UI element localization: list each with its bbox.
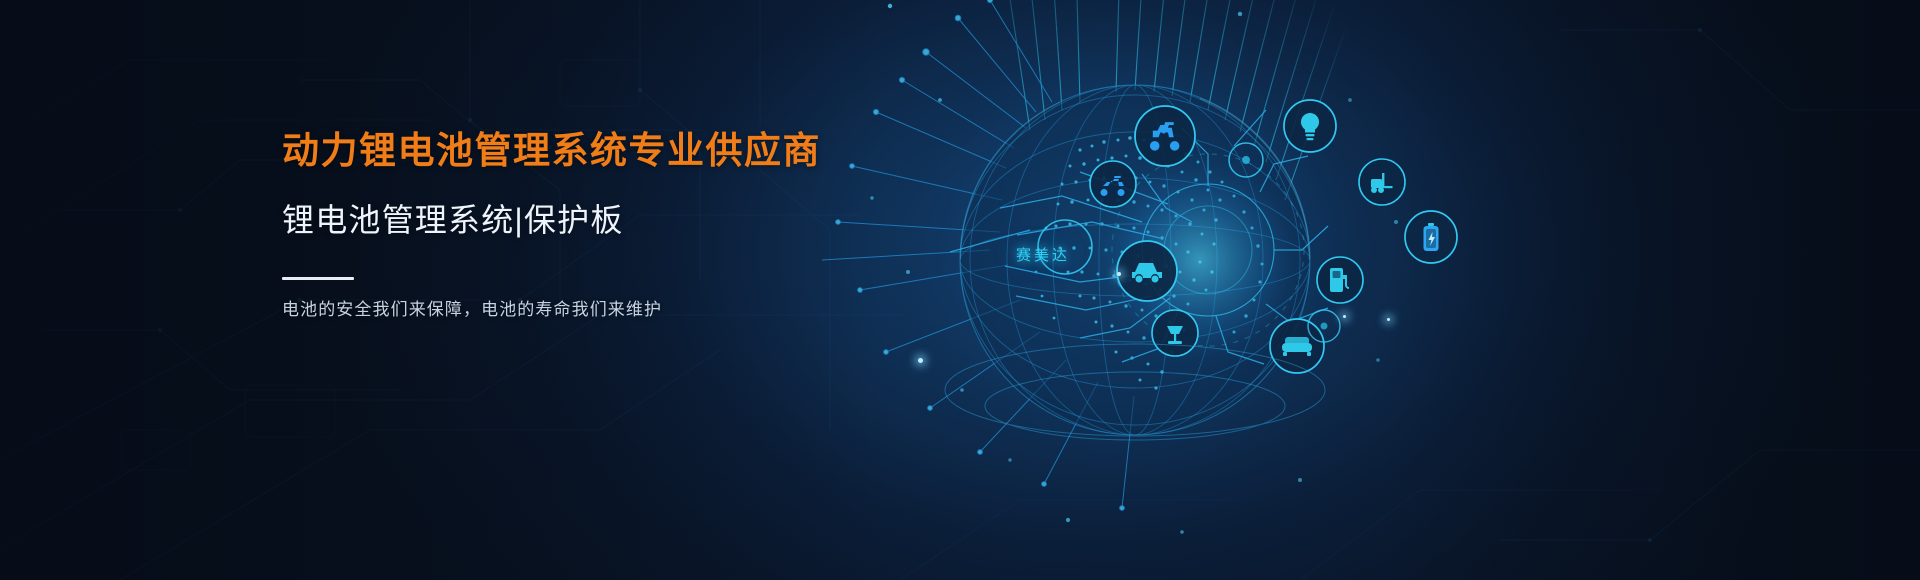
car-icon <box>1117 241 1177 301</box>
hero-banner: 赛美达 动力锂电池管理系统专业供应商 锂电池管理系统|保护板 电池的安全我们来保… <box>0 0 1920 580</box>
banner-tagline: 电池的安全我们来保障，电池的寿命我们来维护 <box>282 297 842 323</box>
ebike-icon <box>1090 161 1136 207</box>
charger-icon <box>1317 257 1363 303</box>
battery-icon <box>1405 211 1457 263</box>
spark-glow-2 <box>918 358 923 363</box>
lamp-icon <box>1152 310 1198 356</box>
spark-glow-4 <box>1343 315 1346 318</box>
spark-glow-1 <box>1117 272 1121 276</box>
sofa-icon <box>1270 319 1324 373</box>
banner-divider <box>282 277 354 280</box>
banner-headline: 动力锂电池管理系统专业供应商 <box>282 128 842 174</box>
banner-subheadline: 锂电池管理系统|保护板 <box>282 200 842 240</box>
spark-glow-3 <box>1387 318 1390 321</box>
banner-text-block: 动力锂电池管理系统专业供应商 锂电池管理系统|保护板 电池的安全我们来保障，电池… <box>282 128 842 323</box>
scooter-icon <box>1135 106 1195 166</box>
forklift-icon <box>1359 159 1405 205</box>
network-globe-graphic <box>830 0 1450 580</box>
lightbulb-icon <box>1284 100 1336 152</box>
